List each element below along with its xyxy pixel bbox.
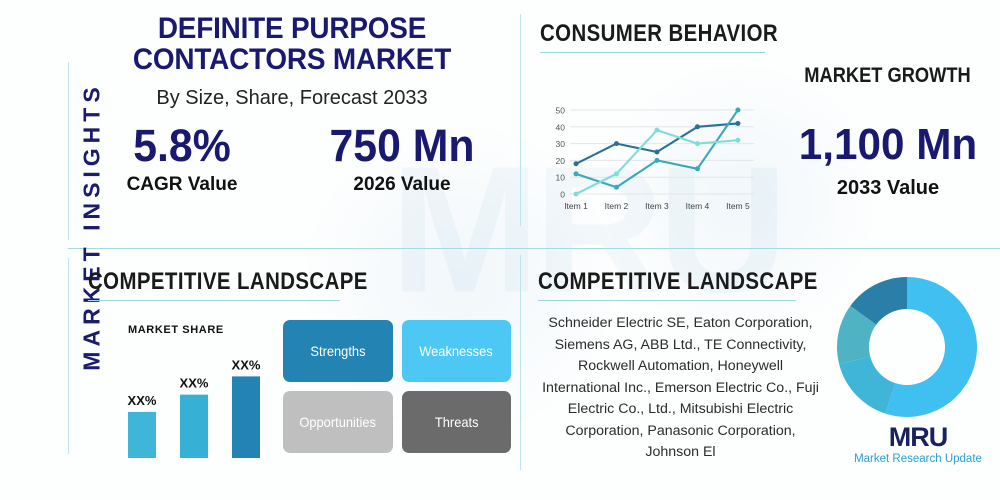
competitive-landscape-left-panel: COMPETITIVE LANDSCAPE MARKET SHARE XX%XX… — [88, 268, 508, 301]
competitive-left-heading: COMPETITIVE LANDSCAPE — [88, 268, 445, 296]
infographic-canvas: MRU MARKET INSIGHTS DEFINITE PURPOSE CON… — [0, 0, 1000, 500]
divider-vertical-middle-top — [520, 14, 521, 226]
swot-threats[interactable]: Threats — [402, 391, 512, 453]
market-growth-value: 1,100 Mn — [778, 123, 999, 167]
market-growth-title: MARKET GROWTH — [798, 64, 976, 88]
title-block: DEFINITE PURPOSE CONTACTORS MARKET By Si… — [72, 14, 512, 196]
svg-text:Item 2: Item 2 — [605, 201, 629, 211]
page-title: DEFINITE PURPOSE CONTACTORS MARKET — [87, 14, 496, 76]
svg-text:Item 4: Item 4 — [686, 201, 710, 211]
svg-text:Item 3: Item 3 — [645, 201, 669, 211]
svg-text:40: 40 — [556, 122, 566, 132]
svg-text:XX%: XX% — [128, 393, 157, 408]
stat-cagr-label: CAGR Value — [72, 174, 292, 196]
stat-2026: 750 Mn 2026 Value — [292, 123, 512, 196]
mru-logo: MRU Market Research Update — [843, 424, 993, 465]
divider-horizontal — [68, 248, 1000, 249]
svg-text:Item 5: Item 5 — [726, 201, 750, 211]
stat-2026-value: 750 Mn — [298, 123, 507, 168]
swot-strengths-label: Strengths — [310, 343, 365, 359]
mru-logo-mark: MRU — [889, 424, 948, 451]
svg-text:50: 50 — [556, 106, 566, 116]
svg-text:XX%: XX% — [180, 376, 209, 391]
competitive-landscape-right-panel: COMPETITIVE LANDSCAPE Schneider Electric… — [538, 268, 838, 464]
stat-2026-label: 2026 Value — [292, 174, 512, 196]
consumer-behavior-rule — [540, 52, 765, 53]
competitive-left-rule — [88, 300, 340, 301]
swot-weaknesses[interactable]: Weaknesses — [402, 320, 512, 382]
stats-row: 5.8% CAGR Value 750 Mn 2026 Value — [72, 123, 512, 196]
swot-opportunities-label: Opportunities — [299, 414, 376, 430]
consumer-behavior-heading: CONSUMER BEHAVIOR — [540, 20, 923, 48]
svg-text:Item 1: Item 1 — [564, 201, 588, 211]
swot-matrix: Strengths Weaknesses Opportunities Threa… — [283, 320, 511, 453]
swot-strengths[interactable]: Strengths — [283, 320, 393, 382]
competitive-right-heading: COMPETITIVE LANDSCAPE — [538, 268, 793, 296]
divider-vertical-left-top — [68, 62, 69, 240]
stat-cagr: 5.8% CAGR Value — [72, 123, 292, 196]
svg-text:20: 20 — [556, 156, 566, 166]
swot-threats-label: Threats — [434, 414, 478, 430]
competitive-right-rule — [538, 300, 796, 301]
market-share-bar-chart: XX%XX%XX% — [104, 326, 294, 466]
mru-logo-tagline: Market Research Update — [843, 453, 993, 465]
svg-text:XX%: XX% — [232, 357, 261, 372]
consumer-behavior-line-chart: 01020304050Item 1Item 2Item 3Item 4Item … — [540, 102, 760, 222]
consumer-behavior-panel: CONSUMER BEHAVIOR MARKET GROWTH 1,100 Mn… — [540, 20, 990, 53]
divider-vertical-middle-bottom — [520, 255, 521, 470]
svg-text:10: 10 — [556, 173, 566, 183]
stat-cagr-value: 5.8% — [78, 123, 287, 168]
page-subtitle: By Size, Share, Forecast 2033 — [72, 87, 512, 110]
swot-opportunities[interactable]: Opportunities — [283, 391, 393, 453]
divider-vertical-left-bottom — [68, 258, 69, 454]
market-growth-label: 2033 Value — [773, 177, 1000, 200]
svg-text:30: 30 — [556, 139, 566, 149]
swot-weaknesses-label: Weaknesses — [419, 343, 493, 359]
segments-donut-chart — [836, 276, 978, 418]
company-list: Schneider Electric SE, Eaton Corporation… — [538, 313, 823, 464]
svg-text:0: 0 — [560, 190, 565, 200]
